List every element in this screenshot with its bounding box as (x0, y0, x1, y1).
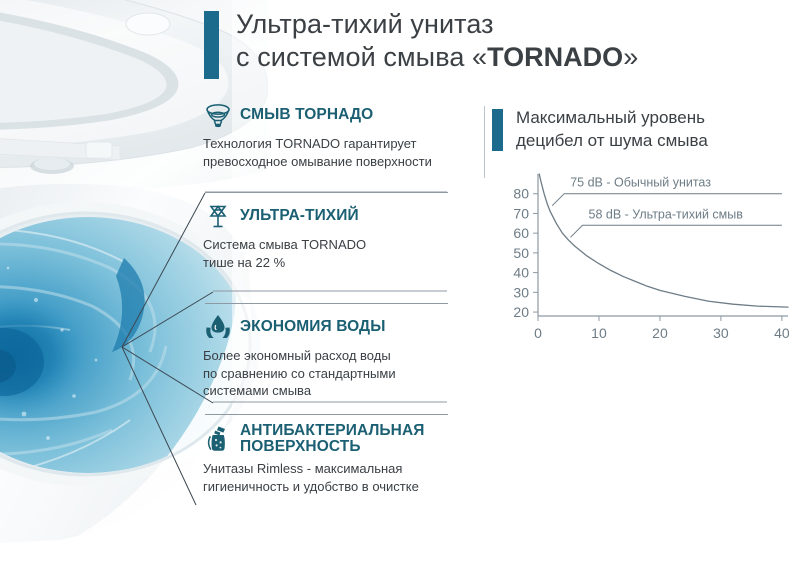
x-tick-label: 40 (774, 325, 790, 341)
feature-item-tornado-flush: СМЫВ ТОРНАДО Технология TORNADO гарантир… (203, 100, 453, 170)
feature-heading: СМЫВ ТОРНАДО (203, 100, 453, 130)
feature-heading: УЛЬТРА-ТИХИЙ (203, 201, 453, 231)
chart-header: Максимальный уровень децибел от шума смы… (492, 106, 792, 152)
x-tick-label: 20 (652, 325, 668, 341)
page-title: Ультра-тихий унитаз с системой смыва «TO… (236, 8, 638, 74)
chart-accent-bar (492, 109, 503, 151)
decibel-chart: 2030405060708001020304075 dB - Обычный у… (492, 168, 792, 348)
section-divider (484, 106, 485, 178)
feature-title: АНТИБАКТЕРИАЛЬНАЯ ПОВЕРХНОСТЬ (240, 423, 425, 455)
page-title-line-2: с системой смыва «TORNADO» (236, 41, 638, 74)
chart-annotation: 58 dB - Ультра-тихий смыв (571, 207, 782, 237)
y-tick-label: 20 (513, 304, 529, 320)
header-accent-bar (204, 11, 219, 79)
annotation-leader (571, 225, 782, 237)
feature-description: Система смыва TORNADO тише на 22 % (203, 236, 453, 271)
muted-horn-icon (203, 201, 233, 231)
y-tick-label: 80 (513, 186, 529, 202)
feature-heading: ЭКОНОМИЯ ВОДЫ (203, 312, 453, 342)
brand-name: TORNADO (487, 42, 623, 72)
feature-heading: АНТИБАКТЕРИАЛЬНАЯ ПОВЕРХНОСТЬ (203, 423, 453, 455)
feature-separator (205, 303, 448, 304)
feature-description: Технология TORNADO гарантирует превосход… (203, 135, 453, 170)
feature-title: УЛЬТРА-ТИХИЙ (240, 208, 359, 224)
x-tick-label: 0 (534, 325, 542, 341)
feature-description: Более экономный расход воды по сравнению… (203, 347, 453, 400)
feature-separator (205, 192, 448, 193)
feature-description: Унитазы Rimless - максимальная гигиеничн… (203, 460, 453, 495)
x-tick-label: 10 (591, 325, 607, 341)
tornado-flush-icon (203, 100, 233, 130)
infographic-page: Ультра-тихий унитаз с системой смыва «TO… (0, 0, 800, 564)
page-title-line-1: Ультра-тихий унитаз (236, 8, 638, 41)
chart-title: Максимальный уровень децибел от шума смы… (516, 106, 708, 152)
feature-separator (205, 414, 448, 415)
feature-title: ЭКОНОМИЯ ВОДЫ (240, 319, 385, 335)
page-header: Ультра-тихий унитаз с системой смыва «TO… (204, 8, 784, 84)
page-title-suffix: » (623, 42, 638, 72)
annotation-label: 75 dB - Обычный унитаз (570, 176, 711, 190)
y-tick-label: 70 (513, 205, 529, 221)
y-tick-label: 40 (513, 265, 529, 281)
feature-item-water-saving: ЭКОНОМИЯ ВОДЫ Более экономный расход вод… (203, 312, 453, 400)
chart-annotation: 75 dB - Обычный унитаз (552, 176, 782, 206)
page-title-prefix: с системой смыва « (236, 42, 487, 72)
spray-bottle-icon (203, 424, 233, 454)
feature-title: СМЫВ ТОРНАДО (240, 107, 373, 123)
feature-item-ultra-quiet: УЛЬТРА-ТИХИЙ Система смыва TORNADO тише … (203, 201, 453, 271)
y-tick-label: 30 (513, 284, 529, 300)
y-tick-label: 60 (513, 225, 529, 241)
y-tick-label: 50 (513, 245, 529, 261)
chart-panel: Максимальный уровень децибел от шума смы… (492, 106, 792, 348)
annotation-leader (552, 194, 782, 206)
water-drop-hands-icon (203, 312, 233, 342)
annotation-label: 58 dB - Ультра-тихий смыв (589, 207, 744, 221)
x-tick-label: 30 (713, 325, 729, 341)
feature-item-antibacterial: АНТИБАКТЕРИАЛЬНАЯ ПОВЕРХНОСТЬ Унитазы Ri… (203, 423, 453, 495)
